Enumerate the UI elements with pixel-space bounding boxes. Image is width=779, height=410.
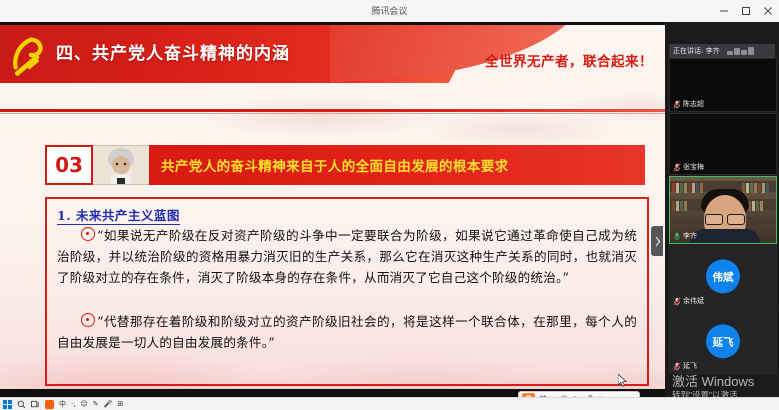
window-controls — [719, 0, 773, 22]
participant-name: 张宝梅 — [683, 162, 704, 172]
sidebar-collapse-handle[interactable] — [651, 226, 663, 256]
section-title: 共产党人的奋斗精神来自于人的全面自由发展的根本要求 — [149, 155, 509, 175]
tencent-meeting-window: 腾讯会议 四 — [0, 0, 779, 410]
ime-toolbox-icon[interactable]: ⊞ — [117, 400, 123, 408]
windows-taskbar: 中 ·, ☺ ✎ 🎤 ⊞ — [0, 397, 779, 410]
participant-tile[interactable]: 延飞 延飞 — [669, 310, 777, 374]
active-speaker-banner: 正在讲话: 李齐 — [669, 44, 775, 58]
participant-name-row: 延飞 — [673, 361, 697, 371]
participant-name: 余伟斌 — [683, 296, 704, 306]
window-title: 腾讯会议 — [0, 0, 779, 22]
mic-muted-icon — [673, 163, 681, 172]
bullet-icon — [81, 313, 95, 327]
participant-tile[interactable]: 陈志超 — [669, 58, 777, 112]
marx-portrait — [93, 145, 149, 185]
close-icon[interactable] — [763, 6, 773, 16]
active-speaker-label: 正在讲话: 李齐 — [669, 46, 720, 56]
ime-voice-icon[interactable]: 🎤 — [104, 400, 113, 408]
section-header: 03 共产党人的奋斗精神来自于人的全面自由发展的根本要求 — [45, 145, 645, 185]
slide-slogan: 全世界无产者，联合起来！ — [485, 50, 653, 70]
task-view-icon[interactable] — [31, 400, 40, 409]
section-number: 03 — [45, 145, 93, 185]
mic-active-icon — [673, 232, 681, 241]
participant-name: 陈志超 — [683, 99, 704, 109]
ime-handwriting-icon[interactable]: ✎ — [93, 400, 99, 408]
participant-tile[interactable]: 伟斌 余伟斌 — [669, 245, 777, 309]
glasses-icon — [705, 214, 745, 223]
paragraph-1-text: “如果说无产阶级在反对资产阶级的斗争中一定要联合为阶级，如果说它通过革命使自己成… — [57, 228, 637, 285]
meeting-content: 四、共产党人奋斗精神的内涵 全世界无产者，联合起来！ 03 — [0, 22, 779, 410]
participant-name-row: 陈志超 — [673, 99, 704, 109]
mic-muted-icon — [673, 100, 681, 109]
ime-emoji-icon[interactable]: ☺ — [80, 400, 87, 408]
search-icon[interactable] — [17, 400, 26, 409]
audio-wave-icon — [723, 47, 754, 55]
party-emblem-icon — [6, 31, 52, 77]
participant-tile-active-speaker[interactable]: 李齐 — [669, 176, 777, 244]
banner-rule — [0, 109, 665, 112]
person-shoulders — [690, 229, 760, 243]
body-paragraph-1: “如果说无产阶级在反对资产阶级的斗争中一定要联合为阶级，如果说它通过革命使自己成… — [57, 225, 637, 288]
ime-mode-indicator[interactable]: 中 — [59, 399, 66, 409]
participant-name-row: 张宝梅 — [673, 162, 704, 172]
shared-slide[interactable]: 四、共产党人奋斗精神的内涵 全世界无产者，联合起来！ 03 — [0, 25, 665, 389]
windows-start-icon[interactable] — [3, 400, 12, 409]
paragraph-2-text: “代替那存在着阶级和阶级对立的资产阶级旧社会的，将是这样一个联合体，在那里，每个… — [57, 314, 637, 350]
avatar: 伟斌 — [706, 259, 740, 293]
slide-body-box: 1. 未来共产主义蓝图 “如果说无产阶级在反对资产阶级的斗争中一定要联合为阶级，… — [45, 197, 649, 386]
slide-header-title: 四、共产党人奋斗精神的内涵 — [56, 39, 290, 64]
sogou-taskbar-icon[interactable] — [45, 400, 54, 409]
mic-muted-icon — [673, 362, 681, 371]
body-sub-title: 1. 未来共产主义蓝图 — [57, 205, 180, 225]
mouse-cursor — [618, 374, 628, 387]
mic-muted-icon — [673, 297, 681, 306]
ime-punctuation-icon[interactable]: ·, — [71, 400, 75, 408]
avatar: 延飞 — [706, 324, 740, 358]
banner-rule-thin — [0, 113, 665, 114]
participant-name-row: 李齐 — [673, 231, 697, 241]
participant-sidebar: 正在讲话: 李齐 陈志超 — [665, 22, 779, 410]
minimize-icon[interactable] — [719, 6, 729, 16]
participant-name: 延飞 — [683, 361, 697, 371]
section-title-bar: 共产党人的奋斗精神来自于人的全面自由发展的根本要求 — [149, 145, 645, 185]
bullet-icon — [81, 227, 95, 241]
title-bar: 腾讯会议 — [0, 0, 779, 23]
participant-name-row: 余伟斌 — [673, 296, 704, 306]
body-paragraph-2: “代替那存在着阶级和阶级对立的资产阶级旧社会的，将是这样一个联合体，在那里，每个… — [57, 311, 637, 353]
participant-tile[interactable]: 张宝梅 — [669, 113, 777, 175]
participant-name: 李齐 — [683, 231, 697, 241]
maximize-icon[interactable] — [741, 6, 751, 16]
